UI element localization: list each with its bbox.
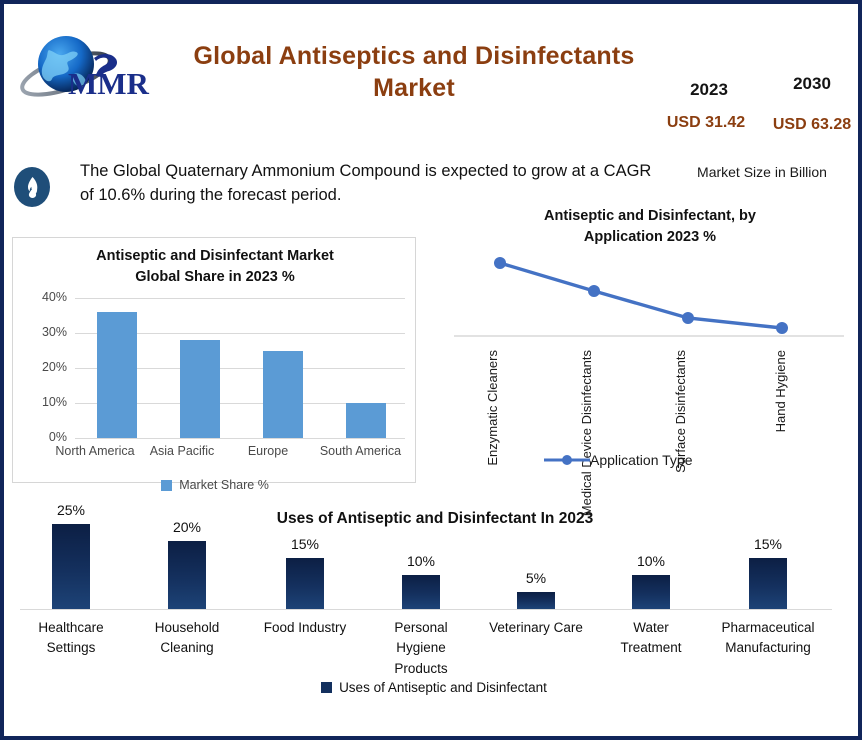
x-label-veterinary-care: Veterinary Care: [476, 618, 596, 638]
legend-swatch-uses: [321, 682, 332, 693]
x-label-line1: Veterinary Care: [489, 620, 583, 635]
x-label-household-cleaning: Household Cleaning: [127, 618, 247, 659]
data-label-water-treatment: 10%: [606, 553, 696, 569]
x-label-line2: Hygiene: [396, 640, 446, 655]
line-plot-area: [440, 202, 858, 362]
description-text: The Global Quaternary Ammonium Compound …: [80, 159, 660, 208]
chart-title-line1: Antiseptic and Disinfectant Market: [96, 248, 334, 264]
bar-asia-pacific: [180, 340, 220, 438]
bar-europe: [263, 351, 303, 439]
x-label-line1: Hand Hygiene: [773, 350, 788, 432]
x-label-line1: Healthcare: [38, 620, 103, 635]
flame-icon: [14, 167, 50, 207]
data-label-household-cleaning: 20%: [142, 519, 232, 535]
bar-personal-hygiene-products: [402, 575, 440, 609]
bar-water-treatment: [632, 575, 670, 609]
chart-title-line2: Global Share in 2023 %: [135, 269, 295, 285]
x-label-line2: Disinfectants: [673, 350, 688, 424]
x-label-line2: Treatment: [620, 640, 681, 655]
data-line-application-type: [500, 263, 782, 328]
data-label-food-industry: 15%: [260, 536, 350, 552]
chart-legend: Market Share %: [13, 478, 417, 492]
x-label-healthcare-settings: Healthcare Settings: [11, 618, 131, 659]
gridline-40: [75, 298, 405, 299]
data-point-enzymatic-cleaners: [494, 257, 506, 269]
logo-text: MMR: [68, 66, 150, 101]
global-share-bar-chart: Antiseptic and Disinfectant Market Globa…: [12, 237, 416, 483]
y-tick-20: 20%: [17, 360, 67, 374]
x-label-food-industry: Food Industry: [245, 618, 365, 638]
bar-south-america: [346, 403, 386, 438]
bar-household-cleaning: [168, 541, 206, 609]
x-label-line2: Cleaners: [485, 350, 500, 402]
x-label-line1: Water: [633, 620, 669, 635]
axis-line: [20, 609, 832, 610]
data-point-medical-device-disinfectants: [588, 285, 600, 297]
x-label-south-america: South America: [303, 444, 418, 458]
x-label-enzymatic-cleaners: Enzymatic Cleaners: [486, 350, 501, 466]
chart-legend: Application Type: [544, 452, 692, 468]
chart-title: Antiseptic and Disinfectant Market Globa…: [13, 246, 417, 288]
data-label-personal-hygiene-products: 10%: [376, 553, 466, 569]
chart-legend: Uses of Antiseptic and Disinfectant: [10, 680, 858, 695]
mmr-logo: MMR: [14, 30, 154, 104]
bar-veterinary-care: [517, 592, 555, 609]
bar-food-industry: [286, 558, 324, 609]
gridline-0: [75, 438, 405, 439]
data-label-pharmaceutical-manufacturing: 15%: [723, 536, 813, 552]
legend-marker-application-type: [544, 453, 590, 467]
y-tick-10: 10%: [17, 395, 67, 409]
y-tick-0: 0%: [17, 430, 67, 444]
kpi-year-start: 2023: [666, 80, 752, 100]
uses-bar-chart: Uses of Antiseptic and Disinfectant In 2…: [10, 498, 858, 734]
x-label-hand-hygiene: Hand Hygiene: [774, 350, 789, 432]
x-label-line1: Food Industry: [264, 620, 347, 635]
kpi-value-start: USD 31.42: [654, 114, 758, 132]
kpi-year-end: 2030: [766, 74, 858, 94]
flame-glyph: [25, 177, 40, 198]
data-point-hand-hygiene: [776, 322, 788, 334]
data-label-healthcare-settings: 25%: [26, 502, 116, 518]
globe-icon: MMR: [14, 30, 154, 104]
page-title: Global Antiseptics and Disinfectants Mar…: [154, 40, 674, 104]
x-label-pharmaceutical-manufacturing: Pharmaceutical Manufacturing: [708, 618, 828, 659]
x-label-line2: Settings: [47, 640, 96, 655]
x-label-line3: Products: [394, 661, 447, 676]
kpi-value-end: USD 63.28: [760, 116, 862, 134]
x-label-line2: Disinfectants: [579, 350, 594, 424]
by-application-line-chart: Antiseptic and Disinfectant, by Applicat…: [440, 202, 858, 482]
x-label-line1: Household: [155, 620, 220, 635]
plot-area: [75, 298, 405, 438]
y-tick-40: 40%: [17, 290, 67, 304]
data-point-surface-disinfectants: [682, 312, 694, 324]
legend-swatch-market-share: [161, 480, 172, 491]
legend-label-uses: Uses of Antiseptic and Disinfectant: [339, 680, 547, 695]
x-label-water-treatment: Water Treatment: [591, 618, 711, 659]
x-label-personal-hygiene-products: Personal Hygiene Products: [361, 618, 481, 679]
legend-label-application-type: Application Type: [590, 452, 692, 468]
x-label-line1: Enzymatic: [485, 406, 500, 466]
legend-label-market-share: Market Share %: [179, 478, 269, 492]
x-label-line2: Cleaning: [160, 640, 213, 655]
chart-title: Uses of Antiseptic and Disinfectant In 2…: [210, 510, 660, 528]
x-label-line1: Personal: [394, 620, 447, 635]
x-label-medical-device-disinfectants: Medical Device Disinfectants: [580, 350, 595, 516]
bar-pharmaceutical-manufacturing: [749, 558, 787, 609]
bar-healthcare-settings: [52, 524, 90, 609]
bar-north-america: [97, 312, 137, 438]
x-label-line1: Pharmaceutical: [721, 620, 814, 635]
data-label-veterinary-care: 5%: [491, 570, 581, 586]
kpi-caption: Market Size in Billion: [664, 164, 860, 180]
infographic-root: MMR Global Antiseptics and Disinfectants…: [0, 0, 862, 740]
x-label-line2: Manufacturing: [725, 640, 811, 655]
y-tick-30: 30%: [17, 325, 67, 339]
